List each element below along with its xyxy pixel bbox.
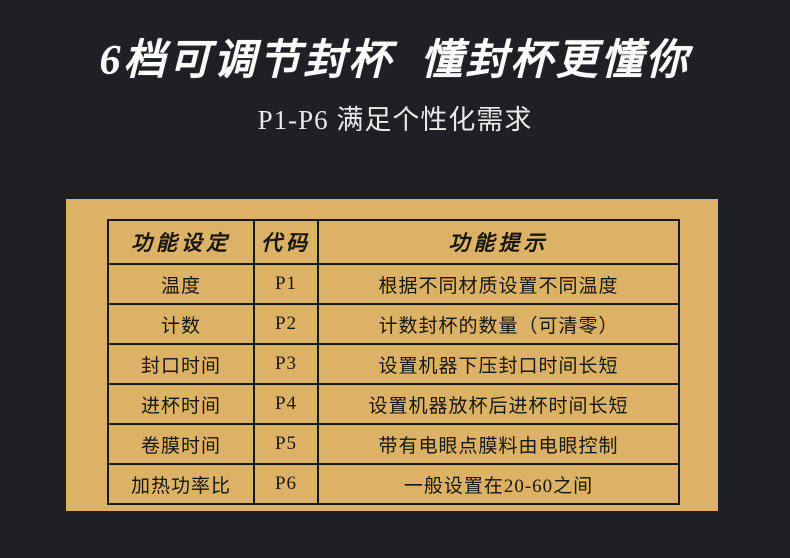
table-body: 温度 P1 根据不同材质设置不同温度 计数 P2 计数封杯的数量（可清零） 封口… [108,264,679,504]
column-header-description: 功能提示 [318,220,679,264]
table-row: 计数 P2 计数封杯的数量（可清零） [108,304,679,344]
cell-code: P6 [254,464,318,504]
cell-code: P5 [254,424,318,464]
promo-page: 6档可调节封杯 懂封杯更懂你 P1-P6 满足个性化需求 功能设定 代码 功能提… [0,0,790,558]
table-header-row: 功能设定 代码 功能提示 [108,220,679,264]
cell-function-name: 温度 [108,264,254,304]
table-row: 封口时间 P3 设置机器下压封口时间长短 [108,344,679,384]
cell-function-name: 封口时间 [108,344,254,384]
cell-description: 设置机器放杯后进杯时间长短 [318,384,679,424]
table-row: 加热功率比 P6 一般设置在20-60之间 [108,464,679,504]
function-settings-table: 功能设定 代码 功能提示 温度 P1 根据不同材质设置不同温度 计数 P2 计数… [107,219,680,505]
table-row: 进杯时间 P4 设置机器放杯后进杯时间长短 [108,384,679,424]
cell-function-name: 进杯时间 [108,384,254,424]
page-subtitle: P1-P6 满足个性化需求 [0,104,790,136]
cell-code: P4 [254,384,318,424]
cell-function-name: 计数 [108,304,254,344]
cell-code: P3 [254,344,318,384]
cell-function-name: 加热功率比 [108,464,254,504]
heading-block: 6档可调节封杯 懂封杯更懂你 P1-P6 满足个性化需求 [0,36,790,136]
table-row: 温度 P1 根据不同材质设置不同温度 [108,264,679,304]
cell-description: 设置机器下压封口时间长短 [318,344,679,384]
table-header: 功能设定 代码 功能提示 [108,220,679,264]
page-title: 6档可调节封杯 懂封杯更懂你 [0,36,790,86]
table-row: 卷膜时间 P5 带有电眼点膜料由电眼控制 [108,424,679,464]
cell-code: P1 [254,264,318,304]
cell-description: 带有电眼点膜料由电眼控制 [318,424,679,464]
column-header-function-name: 功能设定 [108,220,254,264]
column-header-code: 代码 [254,220,318,264]
cell-function-name: 卷膜时间 [108,424,254,464]
cell-description: 计数封杯的数量（可清零） [318,304,679,344]
spec-panel: 功能设定 代码 功能提示 温度 P1 根据不同材质设置不同温度 计数 P2 计数… [66,199,718,511]
cell-description: 一般设置在20-60之间 [318,464,679,504]
cell-description: 根据不同材质设置不同温度 [318,264,679,304]
cell-code: P2 [254,304,318,344]
